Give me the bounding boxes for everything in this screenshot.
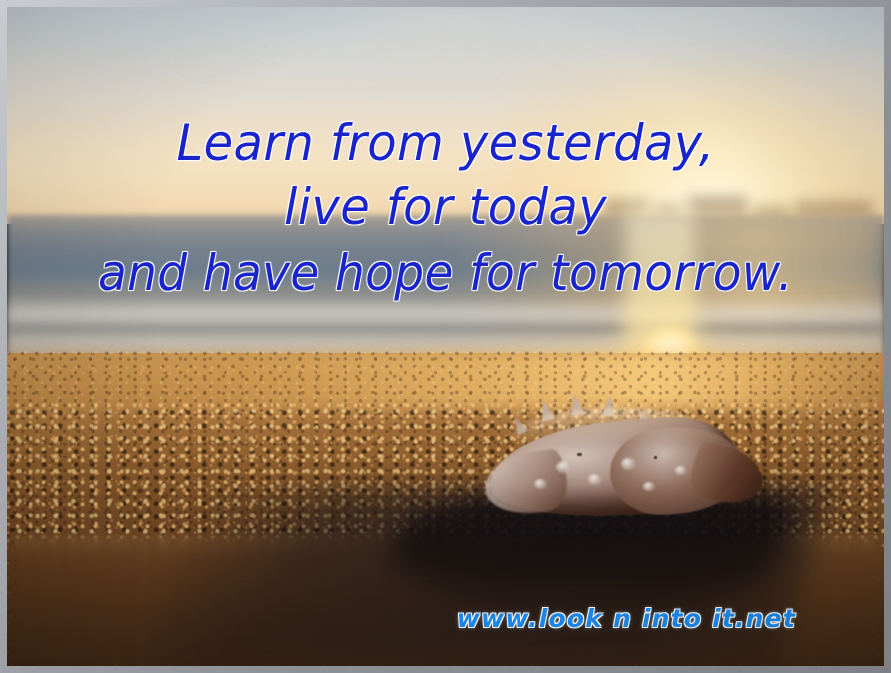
cloud-wisp [51,9,261,24]
seashell [485,393,757,525]
quote-poster: Learn from yesterday, live for today and… [0,0,891,673]
surf-band [7,307,884,324]
shell-nodule [621,458,636,469]
shell-speck [654,456,658,459]
cloud-wisp [358,11,586,31]
website-watermark: www.look n into it.net [457,604,796,633]
cloud-wisp [182,37,489,50]
shell-nodule [588,474,602,485]
shell-spike [537,398,555,421]
beach-sunset-photograph: Learn from yesterday, live for today and… [7,7,884,666]
shell-spike [602,396,616,417]
shell-spike [510,414,528,435]
foreground-depth-blur [7,534,884,666]
shell-nodule [556,461,572,473]
shell-spike [568,392,584,415]
cloud-wisp [551,20,814,37]
shell-nodule [675,466,686,475]
